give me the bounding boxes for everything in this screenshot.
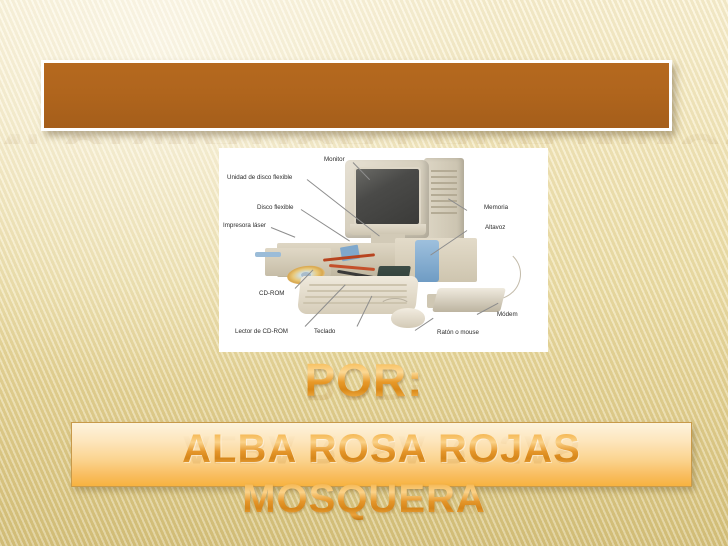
- computer-diagram-image: MonitorUnidad de disco flexibleDisco fle…: [219, 148, 548, 352]
- diagram-label-speaker: Altavoz: [485, 224, 505, 231]
- author-name-line2: MOSQUERA: [0, 478, 728, 520]
- keyboard-key-row: [309, 284, 407, 286]
- keyboard-key-row: [307, 290, 407, 292]
- byline-label: POR:: [0, 356, 728, 404]
- title-text-wrapper: INFORMATICA PARA NIÑOS INFORMATICA PARA …: [0, 48, 728, 144]
- diagram-label-floppy-drive: Unidad de disco flexible: [227, 174, 292, 181]
- vent-line-icon: [431, 212, 457, 214]
- vent-line-icon: [431, 206, 457, 208]
- leader-line-laser-printer: [271, 227, 295, 238]
- modem-illustration: [432, 288, 506, 312]
- slide-title-text: INFORMATICA PARA NIÑOS: [0, 54, 728, 116]
- leader-line-floppy-disk: [301, 209, 350, 241]
- slide-title: INFORMATICA PARA NIÑOS: [0, 54, 728, 116]
- vent-line-icon: [431, 188, 457, 190]
- diagram-label-laser-printer: Impresora láser: [223, 222, 266, 229]
- diagram-label-modem: Módem: [497, 311, 518, 318]
- diagram-label-monitor: Monitor: [324, 156, 345, 163]
- diagram-label-keyboard: Teclado: [314, 328, 335, 335]
- title-reflection: INFORMATICA PARA NIÑOS: [0, 122, 728, 144]
- diagram-label-mouse: Ratón o mouse: [437, 329, 479, 336]
- speaker-illustration: [415, 240, 439, 282]
- vent-line-icon: [431, 176, 457, 178]
- vent-line-icon: [431, 170, 457, 172]
- title-reflection-text: INFORMATICA PARA NIÑOS: [0, 122, 728, 144]
- printer-tray-illustration: [255, 252, 281, 257]
- presentation-slide: INFORMATICA PARA NIÑOS INFORMATICA PARA …: [0, 0, 728, 546]
- diagram-label-cd-rom: CD-ROM: [259, 290, 284, 297]
- byline-wrapper: POR: POR:: [0, 356, 728, 418]
- diagram-label-cd-rom-reader: Lector de CD-ROM: [235, 328, 288, 335]
- diagram-label-memory: Memoria: [484, 204, 508, 211]
- vent-line-icon: [431, 194, 457, 196]
- diagram-label-floppy-disk: Disco flexible: [257, 204, 293, 211]
- author-name-line1: ALBA ROSA ROJAS: [71, 428, 692, 470]
- vent-line-icon: [431, 182, 457, 184]
- monitor-screen-illustration: [354, 167, 421, 226]
